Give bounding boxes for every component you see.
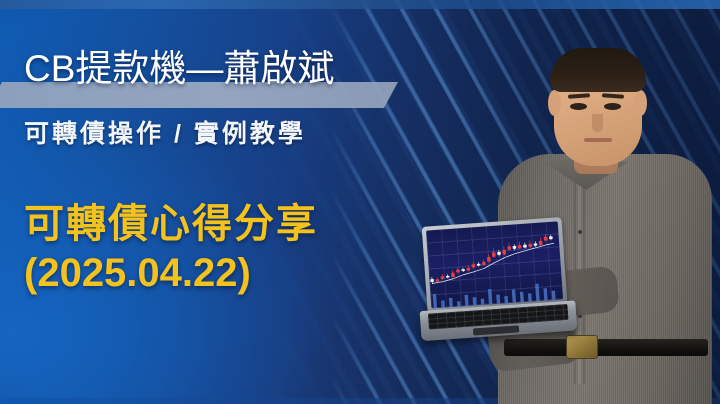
shirt-button: [578, 230, 582, 234]
video-thumbnail: CB提款機—蕭啟斌 可轉債操作 / 實例教學 可轉債心得分享 (2025.04.…: [0, 0, 720, 404]
presenter-mouth: [584, 138, 612, 142]
presenter-ear-left: [548, 90, 561, 116]
headline-date: (2025.04.22): [24, 249, 318, 298]
laptop-device: [414, 217, 575, 355]
laptop-screen: [426, 221, 563, 308]
presenter-eye-left: [570, 103, 587, 110]
text-block: CB提款機—蕭啟斌 可轉債操作 / 實例教學 可轉債心得分享 (2025.04.…: [0, 0, 430, 404]
stock-chart: [426, 221, 563, 308]
headline: 可轉債心得分享 (2025.04.22): [24, 200, 318, 298]
presenter-ear-right: [634, 90, 647, 116]
subtitle: 可轉債操作 / 實例教學: [24, 122, 306, 147]
presenter-hair: [550, 48, 646, 92]
presenter-nose: [592, 114, 603, 132]
laptop-lid: [422, 217, 568, 313]
page-title: CB提款機—蕭啟斌: [24, 50, 334, 87]
laptop-trackpad: [473, 325, 519, 335]
headline-line-1: 可轉債心得分享: [24, 202, 318, 246]
presenter-eye-right: [604, 103, 621, 110]
